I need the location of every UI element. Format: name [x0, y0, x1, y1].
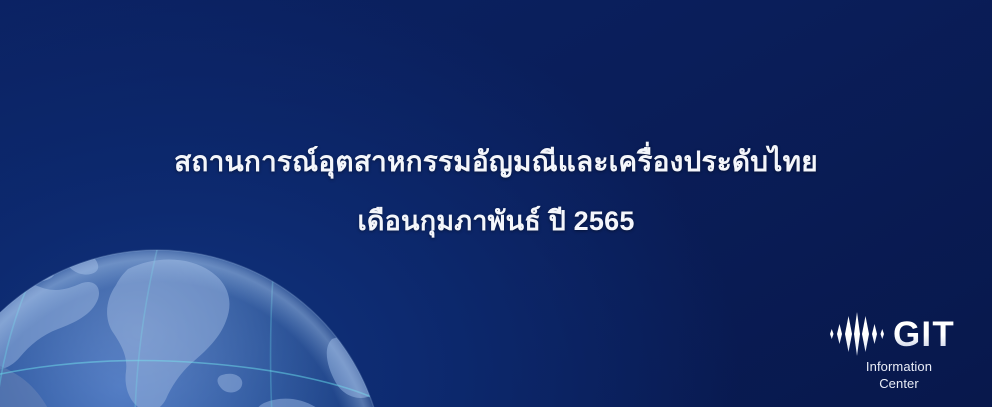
logo-subtitle: Information Center	[826, 358, 978, 392]
globe-landmass	[0, 252, 388, 407]
title-line-2: เดือนกุมภาพันธ์ ปี 2565	[0, 206, 992, 237]
globe-grid	[0, 250, 390, 407]
diamond-spikes-icon	[826, 311, 888, 357]
logo-subtitle-line-2: Center	[826, 375, 972, 392]
logo-subtitle-line-1: Information	[826, 358, 972, 375]
title-line-1: สถานการณ์อุตสาหกรรมอัญมณีและเครื่องประดั…	[0, 146, 992, 178]
globe-icon	[0, 243, 392, 407]
git-logo: GIT Information Center	[826, 309, 978, 401]
logo-top-row: GIT	[826, 309, 978, 359]
page-title: สถานการณ์อุตสาหกรรมอัญมณีและเครื่องประดั…	[0, 146, 992, 237]
banner: สถานการณ์อุตสาหกรรมอัญมณีและเครื่องประดั…	[0, 0, 992, 407]
logo-wordmark: GIT	[893, 317, 955, 352]
